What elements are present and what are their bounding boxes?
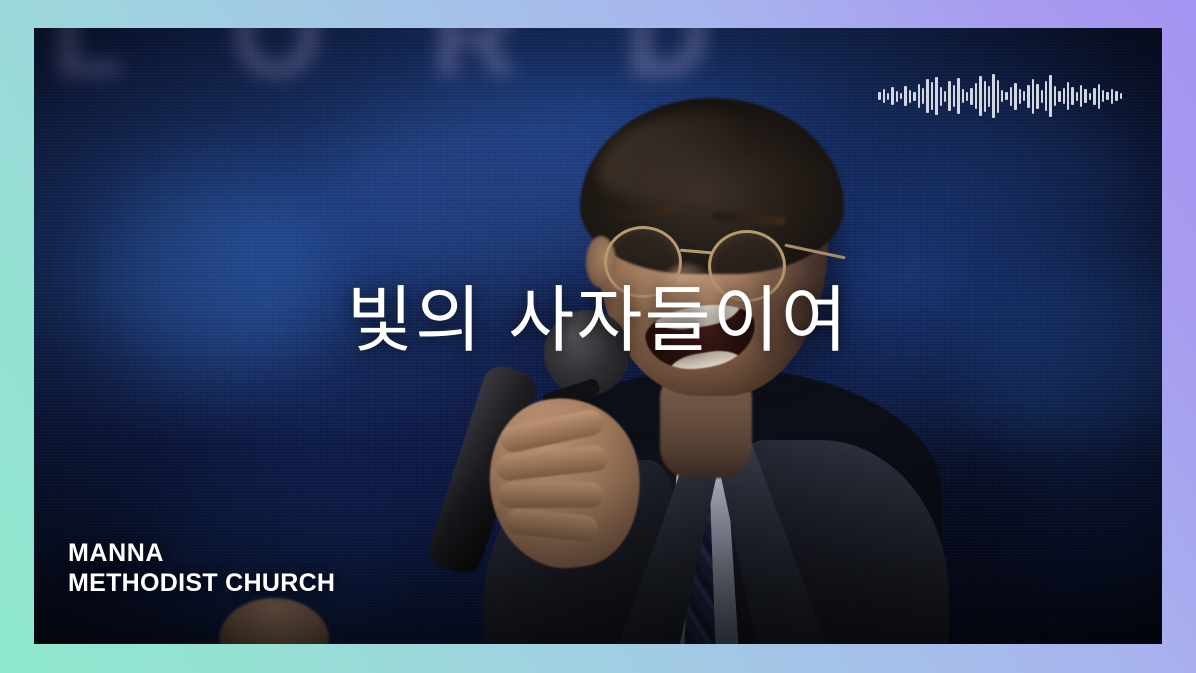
waveform-bar bbox=[948, 81, 950, 111]
waveform-bar bbox=[891, 87, 893, 105]
waveform-bar bbox=[913, 92, 915, 101]
waveform-bar bbox=[988, 86, 990, 107]
waveform-bar bbox=[1049, 75, 1051, 117]
waveform-bar bbox=[1036, 84, 1038, 109]
waveform-bar bbox=[896, 91, 898, 102]
waveform-bar bbox=[1071, 87, 1073, 105]
gradient-mat: L O R D bbox=[0, 0, 1196, 673]
waveform-bar bbox=[922, 88, 924, 104]
waveform-bar bbox=[900, 93, 902, 99]
waveform-bar bbox=[1041, 90, 1043, 103]
waveform-bar bbox=[997, 80, 999, 113]
waveform-bar bbox=[1076, 92, 1078, 101]
lyric-caption: 빛의 사자들이여 bbox=[34, 282, 1162, 360]
waveform-bar bbox=[962, 89, 964, 103]
waveform-bar bbox=[931, 82, 933, 110]
waveform-bar bbox=[1106, 92, 1108, 100]
waveform-bar bbox=[926, 79, 928, 113]
waveform-bar bbox=[1080, 85, 1082, 107]
brand-name: MANNA bbox=[68, 539, 335, 569]
waveform-bar bbox=[1089, 93, 1091, 100]
glasses-bridge bbox=[680, 249, 712, 255]
waveform-bar bbox=[1005, 92, 1007, 100]
waveform-bar bbox=[979, 76, 981, 116]
waveform-bar bbox=[957, 78, 959, 114]
waveform-bar bbox=[970, 88, 972, 105]
waveform-bar bbox=[966, 92, 968, 101]
waveform-bar bbox=[878, 92, 880, 100]
waveform-bar bbox=[1120, 93, 1122, 99]
waveform-bar bbox=[1054, 86, 1056, 106]
waveform-bar bbox=[944, 91, 946, 102]
waveform-bar bbox=[909, 90, 911, 103]
waveform-bar bbox=[975, 83, 977, 109]
waveform-bar bbox=[1115, 91, 1117, 101]
glasses-temple bbox=[784, 244, 845, 260]
waveform-bar bbox=[887, 93, 889, 100]
waveform-bar bbox=[1045, 81, 1047, 111]
waveform-bar bbox=[1058, 91, 1060, 102]
waveform-bar bbox=[918, 84, 920, 108]
waveform-bar bbox=[1084, 89, 1086, 103]
waveform-bar bbox=[1111, 89, 1113, 104]
waveform-bar bbox=[883, 89, 885, 103]
audio-waveform-icon bbox=[878, 70, 1122, 122]
waveform-bar bbox=[1067, 82, 1069, 110]
video-frame: L O R D bbox=[34, 28, 1162, 644]
church-branding: MANNA METHODIST CHURCH bbox=[68, 539, 335, 598]
waveform-bar bbox=[940, 87, 942, 106]
finger bbox=[498, 482, 604, 508]
waveform-bar bbox=[1023, 91, 1025, 101]
waveform-bar bbox=[1093, 88, 1095, 105]
waveform-bar bbox=[984, 81, 986, 112]
waveform-bar bbox=[1063, 88, 1065, 104]
waveform-bar bbox=[953, 85, 955, 107]
waveform-bar bbox=[992, 74, 994, 118]
waveform-bar bbox=[1019, 89, 1021, 104]
waveform-bar bbox=[1014, 83, 1016, 110]
waveform-bar bbox=[1027, 85, 1029, 108]
waveform-bar bbox=[1010, 87, 1012, 106]
waveform-bar bbox=[1032, 79, 1034, 114]
waveform-bar bbox=[935, 77, 937, 115]
waveform-bar bbox=[1001, 90, 1003, 102]
waveform-bar bbox=[1102, 90, 1104, 102]
brand-subtitle: METHODIST CHURCH bbox=[68, 569, 335, 599]
waveform-bar bbox=[1098, 84, 1100, 109]
waveform-bar bbox=[904, 86, 906, 106]
